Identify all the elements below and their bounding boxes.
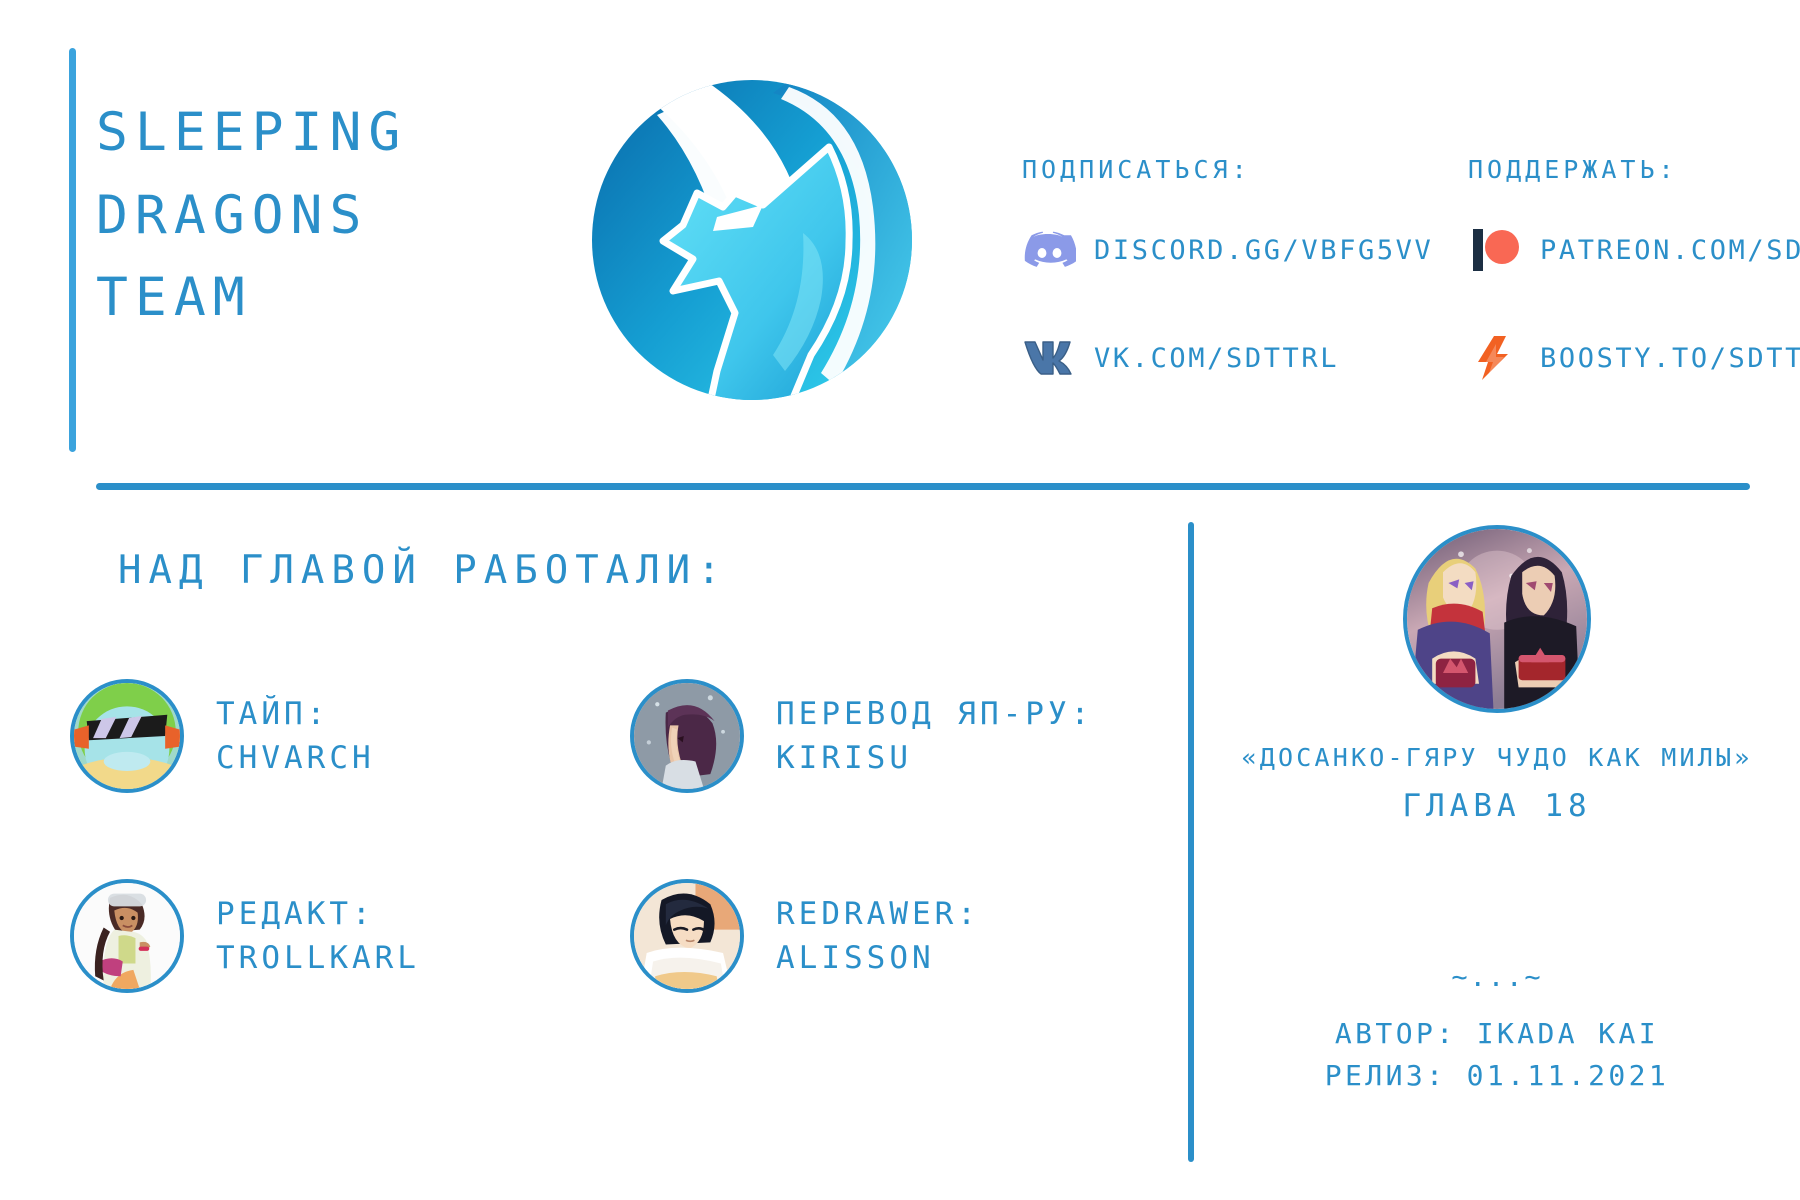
brand-line-3: TEAM <box>96 257 526 340</box>
support-column: ПОДДЕРЖАТЬ: PATREON.COM/SDTTRL BOOSTY.TO… <box>1468 155 1800 438</box>
discord-url: DISCORD.GG/VBFG5VV <box>1094 235 1433 266</box>
credit-entry: ТАЙП: CHVARCH <box>70 636 630 836</box>
release-date-label: РЕЛИЗ: 01.11.2021 <box>1325 1055 1669 1097</box>
avatar-purple-hair-girl <box>630 679 744 793</box>
patreon-link[interactable]: PATREON.COM/SDTTRL <box>1468 222 1800 278</box>
brand-accent-bar <box>69 48 76 452</box>
credit-text: REDRAWER: ALISSON <box>776 892 980 980</box>
discord-link[interactable]: DISCORD.GG/VBFG5VV <box>1022 222 1433 278</box>
credit-text: ТАЙП: CHVARCH <box>216 692 375 780</box>
chapter-label: ГЛАВА 18 <box>1402 788 1591 824</box>
credit-text: РЕДАКТ: TROLLKARL <box>216 892 420 980</box>
credit-text: ПЕРЕВОД ЯП-РУ: KIRISU <box>776 692 1093 780</box>
release-meta: АВТОР: IKADA KAI РЕЛИЗ: 01.11.2021 <box>1325 1013 1669 1097</box>
avatar-goggles-girl <box>70 879 184 993</box>
manga-cover-two-girls <box>1403 525 1591 713</box>
credits-page: SLEEPING DRAGONS TEAM <box>0 0 1800 1200</box>
release-panel: «ДОСАНКО-ГЯРУ ЧУДО КАК МИЛЫ» ГЛАВА 18 ~.… <box>1194 515 1800 1155</box>
patreon-icon <box>1468 222 1524 278</box>
credit-role: REDRAWER: <box>776 892 980 936</box>
credit-role: ТАЙП: <box>216 692 375 736</box>
support-heading: ПОДДЕРЖАТЬ: <box>1468 155 1800 184</box>
credit-entry: ПЕРЕВОД ЯП-РУ: KIRISU <box>630 636 1160 836</box>
dragon-logo-icon <box>567 55 937 425</box>
credit-name: TROLLKARL <box>216 936 420 980</box>
credit-name: KIRISU <box>776 736 1093 780</box>
avatar-squirtle-sunglasses <box>70 679 184 793</box>
boosty-url: BOOSTY.TO/SDTTRL <box>1540 343 1800 374</box>
credit-role: ПЕРЕВОД ЯП-РУ: <box>776 692 1093 736</box>
credit-role: РЕДАКТ: <box>216 892 420 936</box>
credit-name: ALISSON <box>776 936 980 980</box>
credit-name: CHVARCH <box>216 736 375 780</box>
boosty-link[interactable]: BOOSTY.TO/SDTTRL <box>1468 330 1800 386</box>
series-title: «ДОСАНКО-ГЯРУ ЧУДО КАК МИЛЫ» <box>1241 743 1752 772</box>
brand-title: SLEEPING DRAGONS TEAM <box>96 92 526 340</box>
patreon-url: PATREON.COM/SDTTRL <box>1540 235 1800 266</box>
author-label: АВТОР: IKADA KAI <box>1325 1013 1669 1055</box>
credit-entry: РЕДАКТ: TROLLKARL <box>70 836 630 1036</box>
credit-entry: REDRAWER: ALISSON <box>630 836 1160 1036</box>
vk-link[interactable]: VK.COM/SDTTRL <box>1022 330 1433 386</box>
brand-line-1: SLEEPING <box>96 92 526 175</box>
subscribe-column: ПОДПИСАТЬСЯ: DISCORD.GG/VBFG5VV VK.COM/S… <box>1022 155 1433 438</box>
credits-grid: ТАЙП: CHVARCH <box>70 636 1160 1036</box>
discord-icon <box>1022 222 1078 278</box>
avatar-sleepy-boy <box>630 879 744 993</box>
header-divider <box>96 483 1750 490</box>
credits-heading: НАД ГЛАВОЙ РАБОТАЛИ: <box>118 548 728 593</box>
boosty-icon <box>1468 330 1524 386</box>
subscribe-heading: ПОДПИСАТЬСЯ: <box>1022 155 1433 184</box>
vk-url: VK.COM/SDTTRL <box>1094 343 1339 374</box>
brand-line-2: DRAGONS <box>96 175 526 258</box>
ornament: ~...~ <box>1451 962 1542 993</box>
vk-icon <box>1022 330 1078 386</box>
